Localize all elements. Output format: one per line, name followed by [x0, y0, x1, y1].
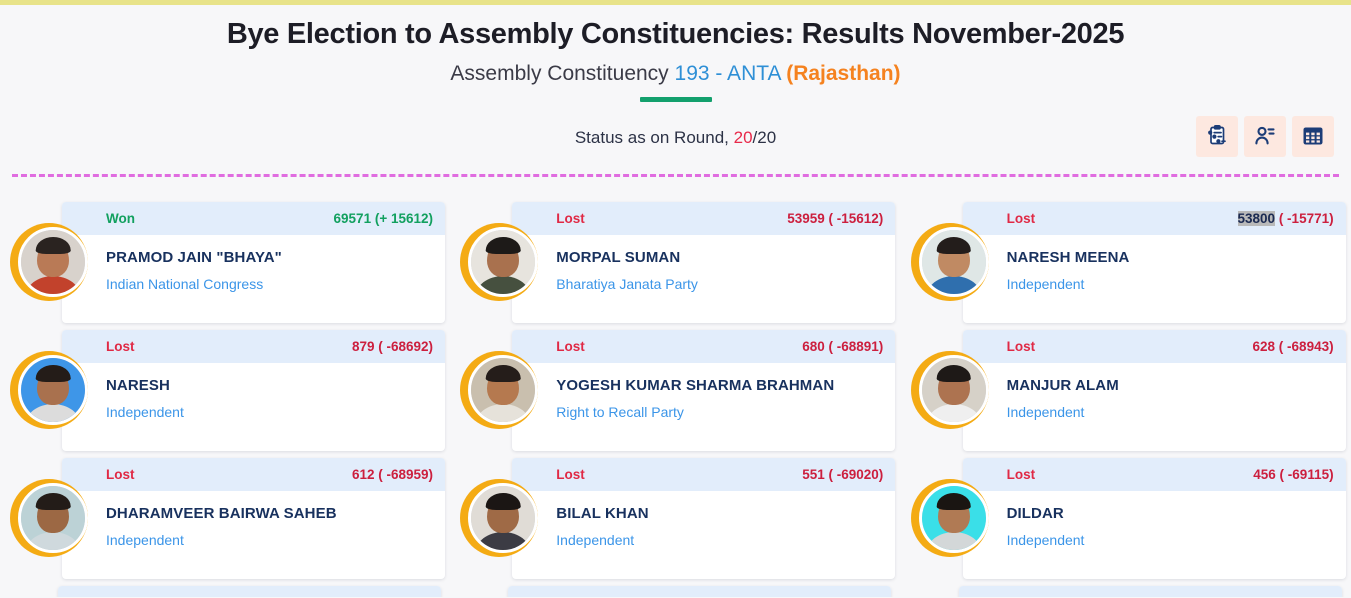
candidate-card[interactable]: Lost680 ( -68891)YOGESH KUMAR SHARMA BRA…: [450, 327, 900, 455]
card-body-wrap: Lost612 ( -68959)DHARAMVEER BAIRWA SAHEB…: [62, 458, 445, 579]
candidate-photo: [919, 355, 989, 425]
avatar: [464, 355, 534, 425]
constituency-subtitle: Assembly Constituency 193 - ANTA (Rajast…: [0, 59, 1351, 88]
card-header: [58, 586, 441, 597]
candidate-party[interactable]: Independent: [1007, 404, 1334, 421]
candidate-name: DILDAR: [1007, 505, 1334, 524]
candidate-card[interactable]: Lost879 ( -68692)NARESHIndependent: [0, 327, 450, 455]
title-underline: [640, 97, 712, 102]
card-body-wrap: Lost680 ( -68891)YOGESH KUMAR SHARMA BRA…: [512, 330, 895, 451]
candidate-card[interactable]: Lost456 ( -69115)DILDARIndependent: [901, 455, 1351, 583]
card-header: Lost53800 ( -15771): [963, 202, 1346, 235]
card-details: NARESHIndependent: [62, 363, 445, 451]
card-header: Lost551 ( -69020): [512, 458, 895, 491]
candidate-card[interactable]: Lost551 ( -69020)BILAL KHANIndependent: [450, 455, 900, 583]
candidate-card[interactable]: Lost53800 ( -15771)NARESH MEENAIndepende…: [901, 199, 1351, 327]
candidate-name: YOGESH KUMAR SHARMA BRAHMAN: [556, 377, 883, 396]
constituency-label: Assembly Constituency: [450, 62, 674, 85]
round-current: 20: [734, 128, 753, 147]
vote-count: 456 ( -69115): [1253, 467, 1333, 482]
candidate-party[interactable]: Independent: [106, 532, 433, 549]
vote-count: 680 ( -68891): [802, 339, 883, 354]
candidate-photo: [919, 483, 989, 553]
status-badge: Lost: [556, 339, 585, 354]
card-details: MORPAL SUMANBharatiya Janata Party: [512, 235, 895, 323]
candidate-party[interactable]: Bharatiya Janata Party: [556, 276, 883, 293]
card-body-wrap: [959, 586, 1342, 597]
vote-detail: 53959 ( -15612): [787, 211, 883, 226]
card-body-wrap: Lost551 ( -69020)BILAL KHANIndependent: [512, 458, 895, 579]
avatar: [915, 227, 985, 297]
candidate-card[interactable]: [901, 583, 1351, 597]
status-badge: Lost: [1007, 467, 1036, 482]
card-details: NARESH MEENAIndependent: [963, 235, 1346, 323]
candidate-party[interactable]: Right to Recall Party: [556, 404, 883, 421]
vote-count: 69571 (+ 15612): [334, 211, 433, 226]
page-title: Bye Election to Assembly Constituencies:…: [0, 15, 1351, 54]
page-header: Bye Election to Assembly Constituencies:…: [0, 5, 1351, 102]
card-header: Lost680 ( -68891): [512, 330, 895, 363]
avatar: [14, 355, 84, 425]
candidate-details-icon: [1253, 124, 1277, 148]
avatar: [464, 227, 534, 297]
status-bar: Status as on Round, 20/20: [0, 116, 1351, 174]
round-wise-results-icon: [1205, 124, 1229, 148]
card-header: Won69571 (+ 15612): [62, 202, 445, 235]
vote-detail: ( -15771): [1275, 211, 1334, 226]
vote-detail: 879 ( -68692): [352, 339, 433, 354]
round-status: Status as on Round, 20/20: [0, 128, 1351, 148]
candidate-card[interactable]: Lost53959 ( -15612)MORPAL SUMANBharatiya…: [450, 199, 900, 327]
card-details: PRAMOD JAIN "BHAYA"Indian National Congr…: [62, 235, 445, 323]
candidate-name: MANJUR ALAM: [1007, 377, 1334, 396]
card-header: Lost456 ( -69115): [963, 458, 1346, 491]
vote-count: 612 ( -68959): [352, 467, 433, 482]
card-body-wrap: Won69571 (+ 15612)PRAMOD JAIN "BHAYA"Ind…: [62, 202, 445, 323]
selected-vote-number: 53800: [1238, 211, 1276, 226]
status-badge: Lost: [556, 467, 585, 482]
card-row: Lost612 ( -68959)DHARAMVEER BAIRWA SAHEB…: [0, 455, 1351, 583]
candidate-card[interactable]: Lost612 ( -68959)DHARAMVEER BAIRWA SAHEB…: [0, 455, 450, 583]
card-body-wrap: Lost456 ( -69115)DILDARIndependent: [963, 458, 1346, 579]
vote-count: 53800 ( -15771): [1238, 211, 1334, 226]
candidate-name: NARESH MEENA: [1007, 249, 1334, 268]
candidate-name: MORPAL SUMAN: [556, 249, 883, 268]
candidate-photo: [468, 355, 538, 425]
vote-count: 628 ( -68943): [1253, 339, 1334, 354]
candidate-name: PRAMOD JAIN "BHAYA": [106, 249, 433, 268]
card-body-wrap: [58, 586, 441, 597]
round-total: /20: [753, 128, 777, 147]
round-status-prefix: Status as on Round,: [575, 128, 734, 147]
card-body-wrap: [508, 586, 891, 597]
vote-detail: 456 ( -69115): [1253, 467, 1333, 482]
vote-count: 879 ( -68692): [352, 339, 433, 354]
card-body-wrap: Lost53800 ( -15771)NARESH MEENAIndepende…: [963, 202, 1346, 323]
constituency-number: 193 - ANTA: [675, 62, 781, 85]
card-details: BILAL KHANIndependent: [512, 491, 895, 579]
card-header: Lost628 ( -68943): [963, 330, 1346, 363]
card-header: [959, 586, 1342, 597]
card-row: Won69571 (+ 15612)PRAMOD JAIN "BHAYA"Ind…: [0, 199, 1351, 327]
status-badge: Lost: [106, 339, 135, 354]
status-badge: Lost: [1007, 211, 1036, 226]
card-details: MANJUR ALAMIndependent: [963, 363, 1346, 451]
state-name: (Rajasthan): [786, 62, 900, 85]
card-row: Lost879 ( -68692)NARESHIndependentLost68…: [0, 327, 1351, 455]
card-header: [508, 586, 891, 597]
candidate-card[interactable]: Lost628 ( -68943)MANJUR ALAMIndependent: [901, 327, 1351, 455]
candidate-name: DHARAMVEER BAIRWA SAHEB: [106, 505, 433, 524]
avatar: [464, 483, 534, 553]
candidate-card[interactable]: [450, 583, 900, 597]
candidate-photo: [468, 483, 538, 553]
card-header: Lost53959 ( -15612): [512, 202, 895, 235]
toolbar-buttons: [1196, 116, 1334, 157]
card-details: DHARAMVEER BAIRWA SAHEBIndependent: [62, 491, 445, 579]
avatar: [14, 483, 84, 553]
candidate-party[interactable]: Independent: [1007, 532, 1334, 549]
candidate-photo: [919, 227, 989, 297]
candidate-photo: [18, 355, 88, 425]
status-badge: Won: [106, 211, 135, 226]
vote-detail: 680 ( -68891): [802, 339, 883, 354]
card-details: YOGESH KUMAR SHARMA BRAHMANRight to Reca…: [512, 363, 895, 451]
candidate-photo: [18, 227, 88, 297]
card-row-partial: [0, 583, 1351, 597]
candidate-party[interactable]: Independent: [556, 532, 883, 549]
status-badge: Lost: [1007, 339, 1036, 354]
card-header: Lost612 ( -68959): [62, 458, 445, 491]
candidate-photo: [18, 483, 88, 553]
vote-count: 551 ( -69020): [802, 467, 883, 482]
vote-count: 53959 ( -15612): [787, 211, 883, 226]
avatar: [14, 227, 84, 297]
candidate-party[interactable]: Independent: [1007, 276, 1334, 293]
candidate-details-button[interactable]: [1244, 116, 1286, 157]
vote-detail: 612 ( -68959): [352, 467, 433, 482]
candidate-name: BILAL KHAN: [556, 505, 883, 524]
vote-detail: 551 ( -69020): [802, 467, 883, 482]
candidate-photo: [468, 227, 538, 297]
status-badge: Lost: [556, 211, 585, 226]
round-wise-results-button[interactable]: [1196, 116, 1238, 157]
card-details: DILDARIndependent: [963, 491, 1346, 579]
vote-detail: 69571 (+ 15612): [334, 211, 433, 226]
status-badge: Lost: [106, 467, 135, 482]
card-body-wrap: Lost628 ( -68943)MANJUR ALAMIndependent: [963, 330, 1346, 451]
card-body-wrap: Lost879 ( -68692)NARESHIndependent: [62, 330, 445, 451]
candidate-party[interactable]: Independent: [106, 404, 433, 421]
candidate-card[interactable]: [0, 583, 450, 597]
avatar: [915, 355, 985, 425]
card-body-wrap: Lost53959 ( -15612)MORPAL SUMANBharatiya…: [512, 202, 895, 323]
candidate-card[interactable]: Won69571 (+ 15612)PRAMOD JAIN "BHAYA"Ind…: [0, 199, 450, 327]
vote-detail: 628 ( -68943): [1253, 339, 1334, 354]
candidate-name: NARESH: [106, 377, 433, 396]
constituency-grid-icon: [1301, 124, 1325, 148]
candidate-cards-grid: Won69571 (+ 15612)PRAMOD JAIN "BHAYA"Ind…: [0, 177, 1351, 597]
candidate-party[interactable]: Indian National Congress: [106, 276, 433, 293]
avatar: [915, 483, 985, 553]
constituency-grid-button[interactable]: [1292, 116, 1334, 157]
card-header: Lost879 ( -68692): [62, 330, 445, 363]
